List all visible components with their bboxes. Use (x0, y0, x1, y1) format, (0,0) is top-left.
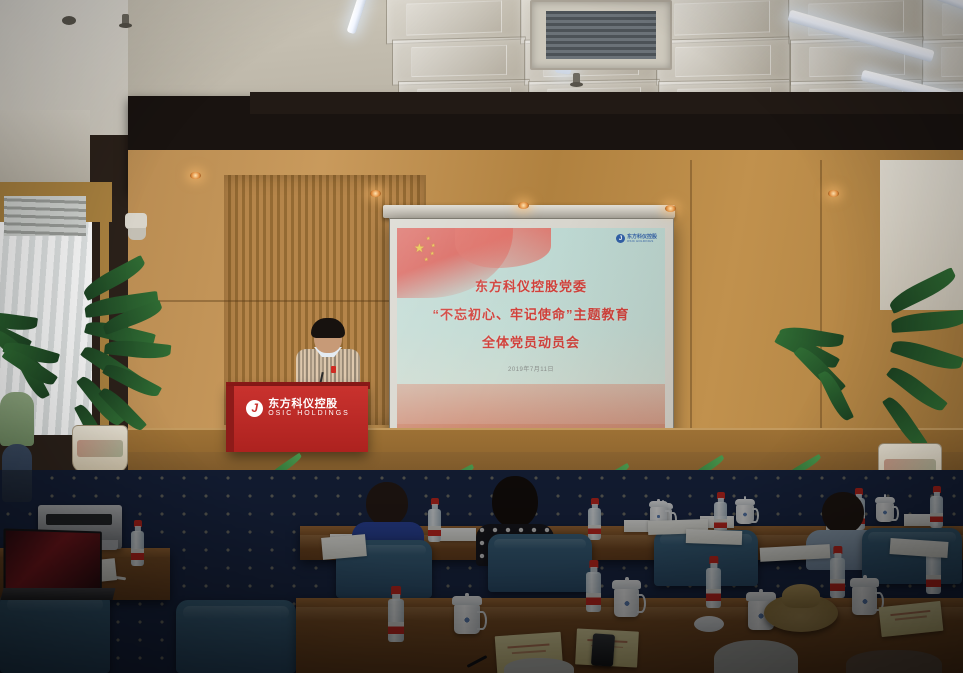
upper-wall-white (0, 110, 90, 190)
chinese-flag-graphic-fold (455, 228, 551, 268)
smoke-detector-icon (62, 16, 76, 25)
podium-logo-mark: J (246, 400, 263, 417)
slide-title-line-2: “不忘初心、牢记使命”主题教育 (397, 304, 665, 323)
speaker-person (296, 318, 360, 390)
flag-star-icon: ★ (430, 252, 434, 257)
floor-shading (0, 470, 963, 673)
ceiling-tile (392, 36, 526, 85)
podium-brand-cn: 东方科仪控股 (268, 398, 350, 410)
slide-logo-en: OSIC HOLDINGS (627, 240, 657, 243)
slide-logo-mark: J (616, 234, 625, 243)
ceiling-beam-upper (250, 92, 963, 114)
sprinkler-head-icon (122, 14, 129, 26)
slide-date: 2019年7月11日 (397, 364, 665, 373)
projection-screen: ★ ★ ★ ★ ★ J 东方科仪控股 OSIC HOLDINGS 东方科仪控股党… (389, 218, 674, 458)
sprinkler-head-icon (573, 73, 580, 85)
podium-brand: J 东方科仪控股 OSIC HOLDINGS (228, 398, 368, 418)
wall-seam (820, 160, 822, 460)
flag-star-icon: ★ (414, 242, 425, 254)
speaker-badge (331, 366, 336, 373)
wall-seam (128, 300, 428, 302)
flag-star-icon: ★ (424, 258, 428, 263)
flag-star-icon: ★ (426, 237, 430, 242)
spotlight-icon (518, 202, 529, 209)
slide-logo: J 东方科仪控股 OSIC HOLDINGS (616, 234, 657, 243)
conference-room-photo: ★ ★ ★ ★ ★ J 东方科仪控股 OSIC HOLDINGS 东方科仪控股党… (0, 0, 963, 673)
wall-speaker (125, 213, 147, 229)
spotlight-icon (370, 190, 381, 197)
ac-grille (546, 11, 656, 59)
spotlight-icon (665, 205, 676, 212)
ceiling-ac-unit (530, 0, 672, 70)
podium: J 东方科仪控股 OSIC HOLDINGS (228, 386, 368, 452)
presentation-slide: ★ ★ ★ ★ ★ J 东方科仪控股 OSIC HOLDINGS 东方科仪控股党… (397, 228, 665, 446)
wall-seam (690, 160, 692, 460)
standing-person-shirt (0, 392, 34, 446)
podium-side (226, 386, 234, 452)
flag-star-icon: ★ (431, 244, 435, 249)
speaker-hair (311, 318, 345, 338)
spotlight-icon (190, 172, 201, 179)
slide-title-line-3: 全体党员动员会 (397, 332, 665, 351)
podium-brand-en: OSIC HOLDINGS (268, 410, 350, 418)
slide-title-line-1: 东方科仪控股党委 (397, 276, 665, 295)
projection-screen-case (383, 205, 675, 218)
spotlight-icon (828, 190, 839, 197)
wall-speaker-cone (128, 228, 146, 240)
